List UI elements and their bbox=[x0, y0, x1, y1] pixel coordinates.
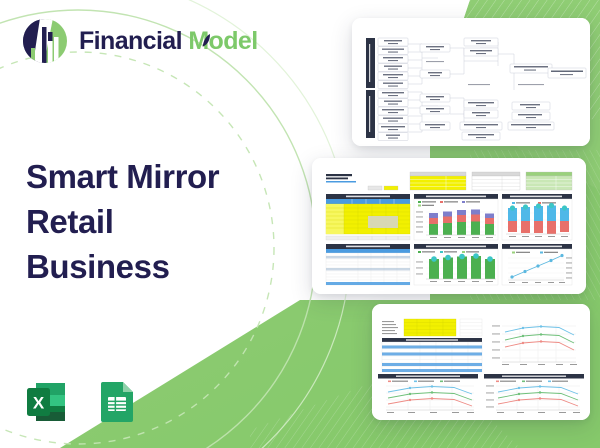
dashboard-top-tables bbox=[410, 172, 572, 190]
file-format-badges: X bbox=[22, 378, 140, 426]
brand-name-part-1: Financial bbox=[79, 27, 182, 55]
financial-dashboard-svg bbox=[312, 158, 586, 294]
page-title: Smart Mirror Retail Business bbox=[26, 155, 276, 290]
panel-revenue-streams bbox=[414, 194, 498, 240]
page-title-line-3: Business bbox=[26, 245, 276, 290]
svg-text:X: X bbox=[33, 394, 45, 413]
flow-node-final bbox=[548, 68, 586, 78]
financial-charts-svg bbox=[372, 304, 590, 420]
brand-logo[interactable]: Financial Model bbox=[22, 18, 258, 64]
brand-name-part-2: Model bbox=[188, 29, 257, 54]
panel-cash-flow bbox=[414, 244, 498, 285]
flow-sidebar-labels bbox=[366, 38, 375, 138]
leaf-accent-icon bbox=[202, 34, 211, 47]
page-title-line-2: Retail bbox=[26, 200, 276, 245]
brand-wordmark: Financial Model bbox=[79, 29, 258, 54]
financial-charts-preview[interactable] bbox=[372, 304, 590, 420]
financial-dashboard-preview[interactable] bbox=[312, 158, 586, 294]
panel-cost-structure bbox=[326, 244, 410, 285]
dupont-flowchart-svg bbox=[352, 18, 590, 146]
panel-profitability bbox=[502, 194, 572, 240]
dupont-flowchart-preview[interactable] bbox=[352, 18, 590, 146]
google-sheets-icon[interactable] bbox=[92, 378, 140, 426]
circular-bar-chart-logo-icon bbox=[22, 18, 68, 64]
page-title-line-1: Smart Mirror bbox=[26, 155, 276, 200]
promo-cover-canvas: Financial Model Smart Mirror Retail Busi… bbox=[0, 0, 600, 448]
panel-investment-payback bbox=[502, 244, 572, 285]
microsoft-excel-icon[interactable]: X bbox=[22, 378, 70, 426]
panel-cost-inputs bbox=[326, 194, 410, 240]
